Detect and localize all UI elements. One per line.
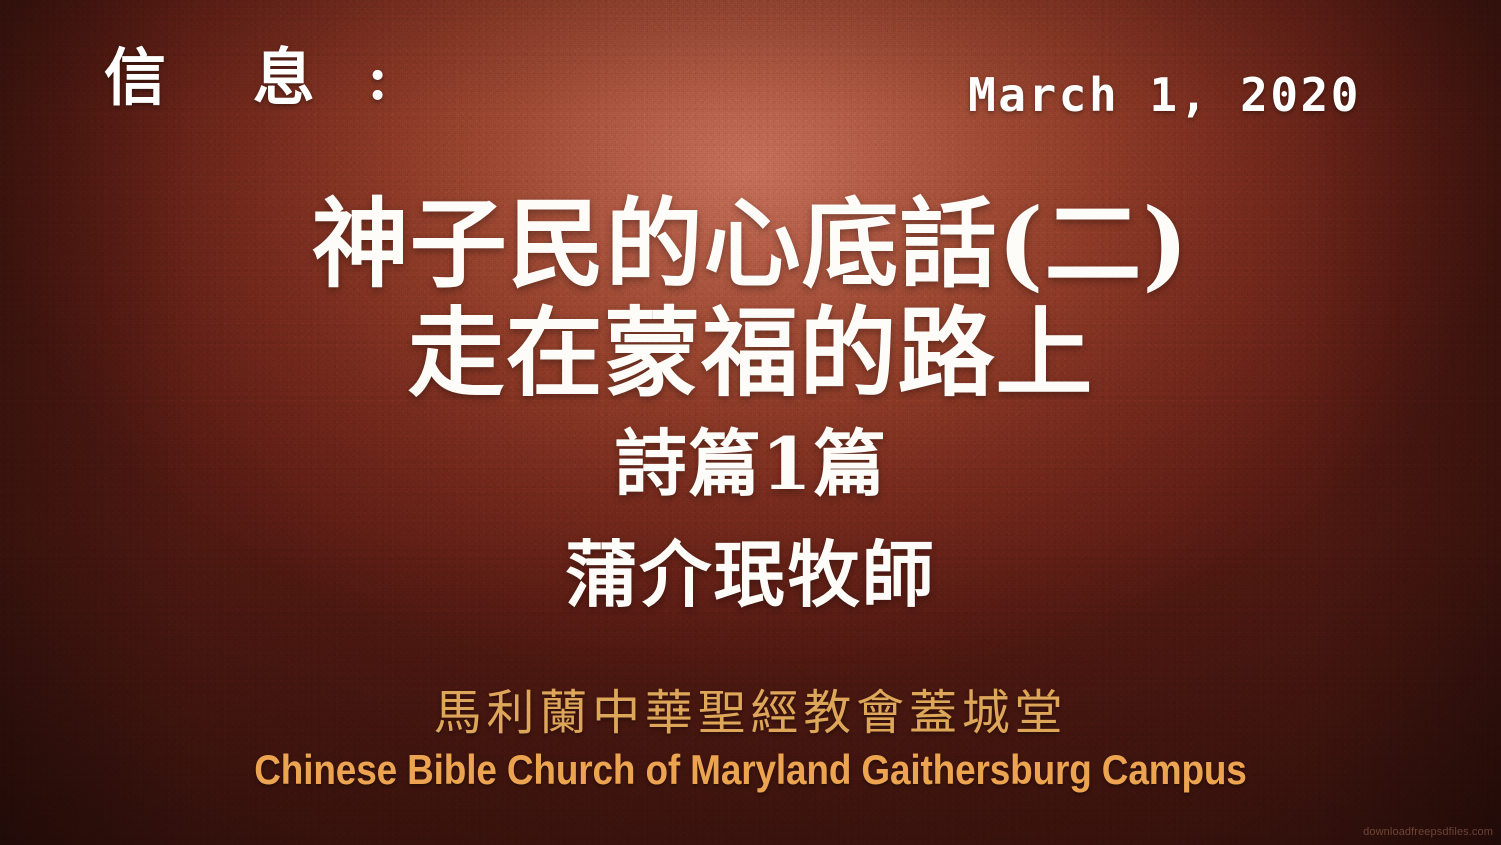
church-name-english: Chinese Bible Church of Maryland Gaither… bbox=[90, 747, 1411, 793]
scripture-reference: 詩篇1篇 bbox=[0, 421, 1501, 507]
speaker-name: 蒲介珉牧師 bbox=[0, 532, 1501, 618]
title-block: 神子民的心底話(二) 走在蒙福的路上 詩篇1篇 蒲介珉牧師 bbox=[0, 190, 1501, 618]
sermon-title-line-1: 神子民的心底話(二) bbox=[0, 190, 1501, 299]
sermon-title-line-2: 走在蒙福的路上 bbox=[0, 299, 1501, 408]
church-footer: 馬利蘭中華聖經教會蓋城堂 Chinese Bible Church of Mar… bbox=[0, 686, 1501, 793]
sermon-title-slide: 信 息 : March 1, 2020 神子民的心底話(二) 走在蒙福的路上 詩… bbox=[0, 0, 1501, 845]
church-name-chinese: 馬利蘭中華聖經教會蓋城堂 bbox=[0, 686, 1501, 741]
slide-content: 信 息 : March 1, 2020 神子民的心底話(二) 走在蒙福的路上 詩… bbox=[0, 0, 1501, 845]
message-label: 信 息 : bbox=[104, 48, 407, 110]
sermon-date: March 1, 2020 bbox=[968, 72, 1361, 118]
watermark-text: downloadfreepsdfiles.com bbox=[1363, 826, 1493, 838]
